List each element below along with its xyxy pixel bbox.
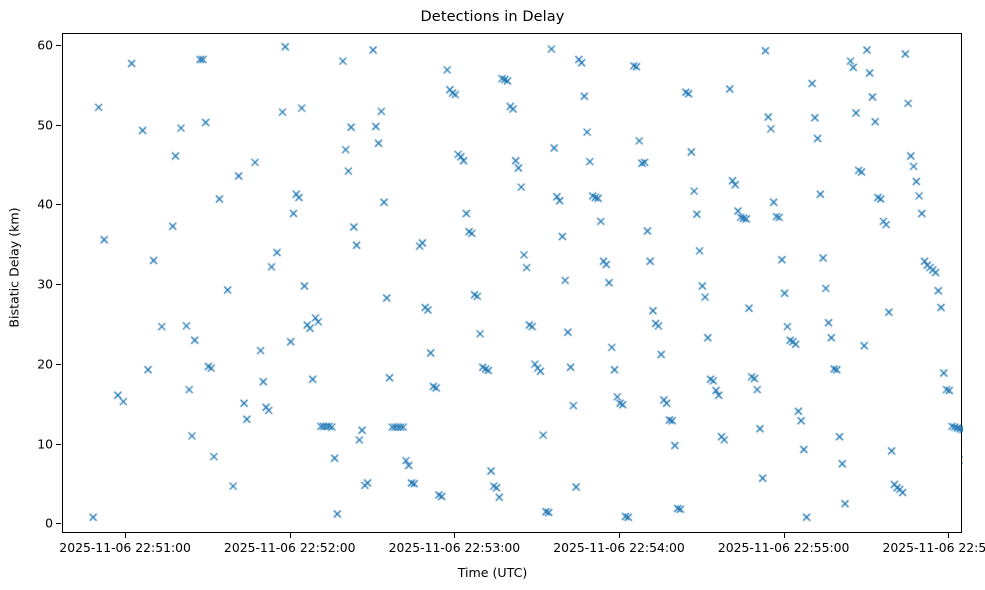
matplotlib-figure: Detections in Delay Bistatic Delay (km) … <box>0 0 985 590</box>
y-tick-label: 30 <box>37 277 53 292</box>
x-tick-label: 2025-11-06 22:51:00 <box>59 540 191 555</box>
y-tick-label: 10 <box>37 436 53 451</box>
y-tick-label: 50 <box>37 117 53 132</box>
y-tick-mark <box>56 364 61 365</box>
y-tick-label: 40 <box>37 197 53 212</box>
chart-title: Detections in Delay <box>0 9 985 25</box>
y-tick-mark <box>56 125 61 126</box>
scatter-points-layer <box>63 34 963 534</box>
plot-area <box>62 33 962 533</box>
x-tick-label: 2025-11-06 22:55:00 <box>718 540 850 555</box>
y-tick-mark <box>56 523 61 524</box>
y-tick-mark <box>56 284 61 285</box>
y-tick-label: 20 <box>37 356 53 371</box>
x-tick-label: 2025-11-06 22:53:00 <box>389 540 521 555</box>
y-tick-mark <box>56 204 61 205</box>
y-tick-label: 60 <box>37 37 53 52</box>
y-tick-mark <box>56 45 61 46</box>
y-axis-tick-labels: 0102030405060 <box>0 33 53 533</box>
y-tick-label: 0 <box>45 516 53 531</box>
x-tick-label: 2025-11-06 22:54:00 <box>553 540 685 555</box>
x-axis-label: Time (UTC) <box>0 565 985 580</box>
x-tick-label: 2025-11-06 22:52:00 <box>224 540 356 555</box>
x-axis-tick-labels: 2025-11-06 22:51:002025-11-06 22:52:0020… <box>0 534 985 564</box>
x-tick-label: 2025-11-06 22:56:00 <box>882 540 985 555</box>
y-tick-mark <box>56 444 61 445</box>
